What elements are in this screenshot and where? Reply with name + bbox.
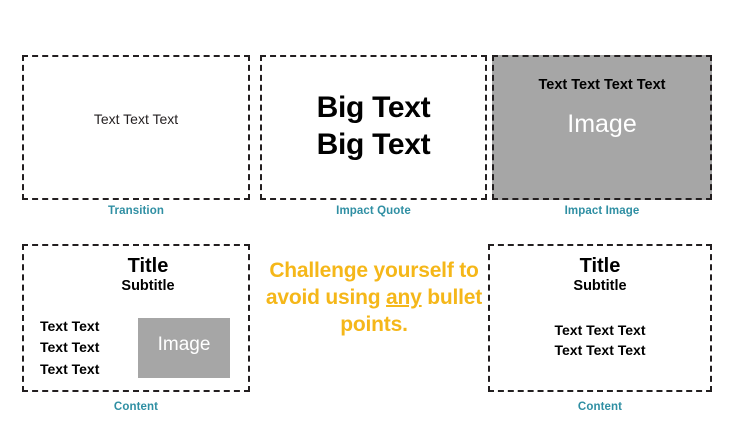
transition-body-text: Text Text Text <box>24 111 248 127</box>
content-left-title: Title <box>48 256 248 277</box>
slide-thumb-impact-quote[interactable]: Big Text Big Text <box>260 55 487 200</box>
caption-transition: Transition <box>22 205 250 217</box>
impact-quote-line-1: Big Text <box>262 89 485 126</box>
impact-image-heading: Text Text Text Text <box>494 77 710 93</box>
slide-thumb-content-left[interactable]: Title Subtitle Text Text Text Text Text … <box>22 244 250 392</box>
content-left-line-3: Text Text <box>40 359 99 380</box>
image-placeholder-box: Image <box>138 318 230 378</box>
image-placeholder-label: Image <box>138 334 230 356</box>
slide-thumb-transition[interactable]: Text Text Text <box>22 55 250 200</box>
content-left-line-2: Text Text <box>40 337 99 358</box>
content-right-title: Title <box>490 256 710 277</box>
caption-impact-quote: Impact Quote <box>260 205 487 217</box>
slide-thumb-impact-image[interactable]: Text Text Text Text Image <box>492 55 712 200</box>
caption-impact-image: Impact Image <box>492 205 712 217</box>
impact-quote-line-2: Big Text <box>262 126 485 163</box>
content-right-body: Text Text Text Text Text Text <box>490 320 710 361</box>
image-placeholder-label: Image <box>494 110 710 139</box>
slide-thumb-content-right[interactable]: Title Subtitle Text Text Text Text Text … <box>488 244 712 392</box>
caption-content-right: Content <box>488 401 712 413</box>
impact-quote-body: Big Text Big Text <box>262 89 485 163</box>
content-left-subtitle: Subtitle <box>48 278 248 294</box>
content-left-body: Text Text Text Text Text Text <box>40 316 99 380</box>
content-right-subtitle: Subtitle <box>490 278 710 294</box>
content-right-line-2: Text Text Text <box>490 340 710 360</box>
callout-text: Challenge yourself to avoid using any bu… <box>258 258 490 339</box>
slide-layout-grid: Text Text Text Transition Big Text Big T… <box>0 0 750 430</box>
content-right-line-1: Text Text Text <box>490 320 710 340</box>
callout-emphasis: any <box>386 286 422 309</box>
caption-content-left: Content <box>22 401 250 413</box>
content-left-line-1: Text Text <box>40 316 99 337</box>
